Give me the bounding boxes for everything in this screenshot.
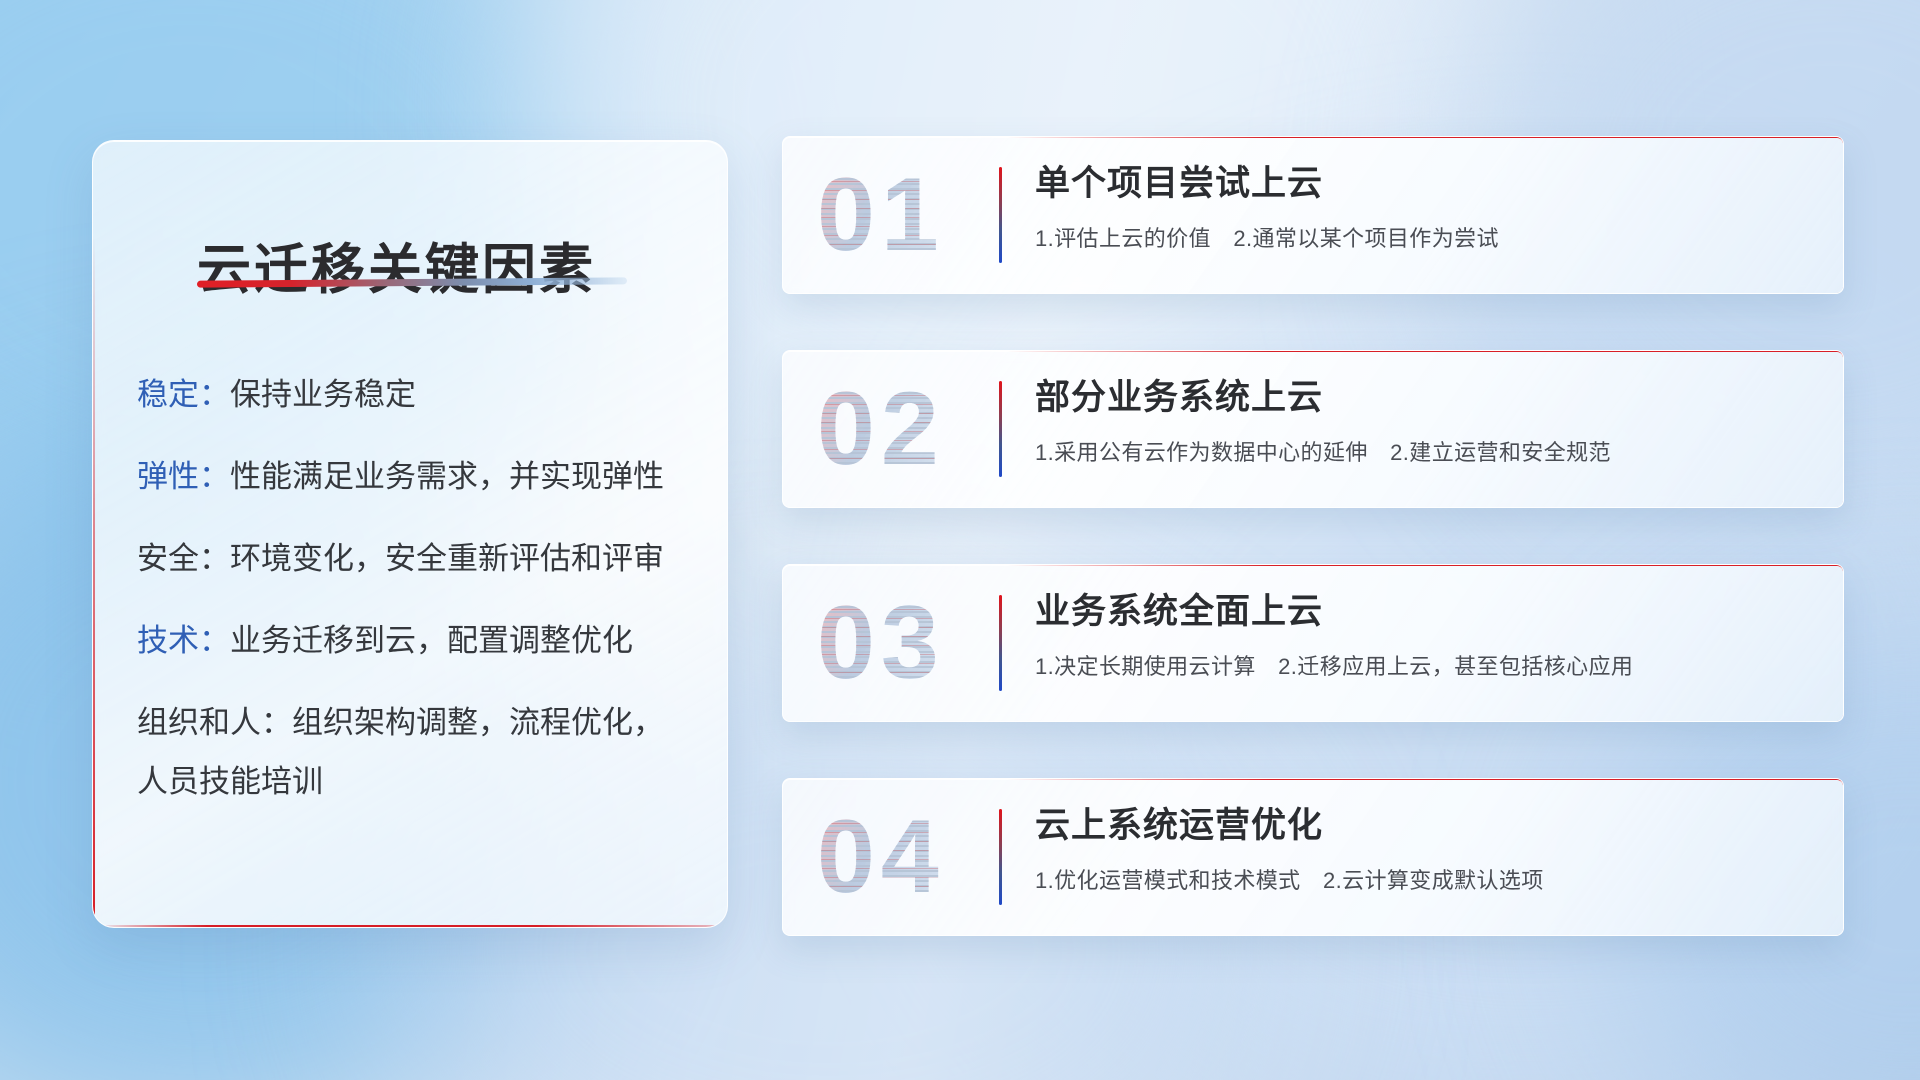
key-factors-panel: 云迁移关键因素 稳定：保持业务稳定 弹性：性能满足业务需求，并实现弹性 安全：环… — [92, 140, 728, 928]
card-subtitle: 1.评估上云的价值 2.通常以某个项目作为尝试 — [1035, 221, 1817, 253]
factor-key: 安全： — [137, 541, 230, 576]
stage-number: 04 — [817, 805, 945, 909]
factor-value: 组织架构调整，流程优化， — [292, 705, 664, 740]
stage-number: 03 — [817, 591, 945, 695]
list-item: 稳定：保持业务稳定 — [137, 379, 697, 410]
slide-canvas: 云迁移关键因素 稳定：保持业务稳定 弹性：性能满足业务需求，并实现弹性 安全：环… — [0, 0, 1920, 1080]
stage-number: 02 — [817, 377, 945, 481]
card-divider-gradient — [999, 809, 1002, 905]
list-item: 安全：环境变化，安全重新评估和评审 — [137, 543, 697, 574]
factor-key: 技术： — [137, 623, 230, 658]
list-item-continuation: 人员技能培训 — [137, 766, 697, 797]
factor-value: 环境变化，安全重新评估和评审 — [230, 541, 664, 576]
stage-card[interactable]: 04 04 云上系统运营优化 1.优化运营模式和技术模式 2.云计算变成默认选项 — [782, 778, 1844, 936]
card-body: 单个项目尝试上云 1.评估上云的价值 2.通常以某个项目作为尝试 — [1035, 165, 1817, 253]
factor-key: 稳定： — [137, 377, 230, 412]
card-divider-gradient — [999, 167, 1002, 263]
factor-key: 弹性： — [137, 459, 230, 494]
stage-card[interactable]: 02 02 部分业务系统上云 1.采用公有云作为数据中心的延伸 2.建立运营和安… — [782, 350, 1844, 508]
stage-card[interactable]: 03 03 业务系统全面上云 1.决定长期使用云计算 2.迁移应用上云，甚至包括… — [782, 564, 1844, 722]
stage-number: 01 — [817, 163, 945, 267]
card-title: 单个项目尝试上云 — [1035, 165, 1817, 204]
factor-list: 稳定：保持业务稳定 弹性：性能满足业务需求，并实现弹性 安全：环境变化，安全重新… — [137, 379, 697, 848]
card-body: 部分业务系统上云 1.采用公有云作为数据中心的延伸 2.建立运营和安全规范 — [1035, 379, 1817, 467]
card-divider-gradient — [999, 595, 1002, 691]
list-item: 组织和人：组织架构调整，流程优化， — [137, 707, 697, 738]
page-title: 云迁移关键因素 — [197, 225, 596, 304]
card-body: 业务系统全面上云 1.决定长期使用云计算 2.迁移应用上云，甚至包括核心应用 — [1035, 593, 1817, 681]
factor-value: 性能满足业务需求，并实现弹性 — [230, 459, 664, 494]
card-body: 云上系统运营优化 1.优化运营模式和技术模式 2.云计算变成默认选项 — [1035, 807, 1817, 895]
list-item: 弹性：性能满足业务需求，并实现弹性 — [137, 461, 697, 492]
factor-value: 业务迁移到云，配置调整优化 — [230, 623, 633, 658]
stage-card-list: 01 01 单个项目尝试上云 1.评估上云的价值 2.通常以某个项目作为尝试 0… — [782, 136, 1844, 992]
list-item: 技术：业务迁移到云，配置调整优化 — [137, 625, 697, 656]
card-divider-gradient — [999, 381, 1002, 477]
card-subtitle: 1.优化运营模式和技术模式 2.云计算变成默认选项 — [1035, 863, 1817, 895]
card-subtitle: 1.采用公有云作为数据中心的延伸 2.建立运营和安全规范 — [1035, 435, 1817, 467]
card-subtitle: 1.决定长期使用云计算 2.迁移应用上云，甚至包括核心应用 — [1035, 649, 1817, 681]
card-title: 业务系统全面上云 — [1035, 593, 1817, 632]
stage-card[interactable]: 01 01 单个项目尝试上云 1.评估上云的价值 2.通常以某个项目作为尝试 — [782, 136, 1844, 294]
factor-value: 保持业务稳定 — [230, 377, 416, 412]
factor-key: 组织和人： — [137, 705, 292, 740]
card-title: 部分业务系统上云 — [1035, 379, 1817, 418]
card-title: 云上系统运营优化 — [1035, 807, 1817, 846]
factor-value-continued: 人员技能培训 — [137, 764, 323, 799]
